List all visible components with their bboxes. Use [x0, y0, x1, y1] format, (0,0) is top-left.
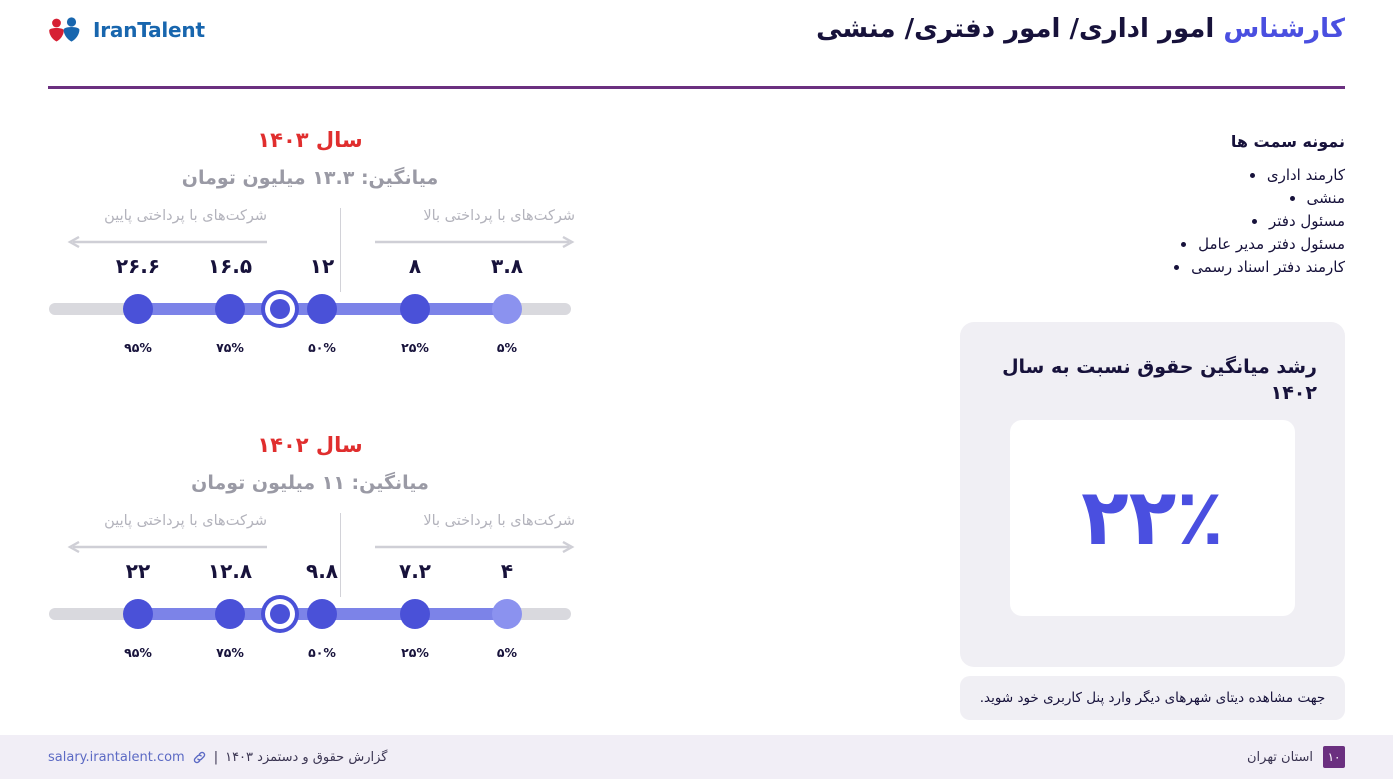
- link-icon[interactable]: [192, 750, 207, 765]
- value-label: ۲۲: [126, 559, 150, 583]
- titles-item-label: کارمند اداری: [1267, 166, 1345, 184]
- percentile-label: ۹۵%: [124, 645, 152, 660]
- chart-year-label: سال ۱۴۰۲: [45, 433, 575, 457]
- arrow-right-icon: [353, 233, 575, 252]
- average-marker[interactable]: [261, 290, 299, 328]
- salary-chart-1402: سال ۱۴۰۲ میانگین: ۱۱ میلیون تومان شرکت‌ه…: [45, 433, 575, 671]
- growth-percentage: ۲۲٪: [1081, 479, 1224, 557]
- chart-percentile-labels: ۵% ۲۵% ۵۰% ۷۵% ۹۵%: [45, 641, 575, 671]
- high-pay-side: شرکت‌های با پرداختی بالا: [353, 206, 575, 252]
- percentile-label: ۵%: [497, 645, 517, 660]
- page-title: کارشناس امور اداری/ امور دفتری/ منشی: [816, 14, 1345, 44]
- bullet-icon: [1174, 265, 1179, 270]
- percentile-slider[interactable]: [45, 593, 575, 635]
- high-pay-label: شرکت‌های با پرداختی بالا: [353, 511, 575, 531]
- list-item: منشی: [945, 187, 1345, 210]
- low-pay-label: شرکت‌های با پرداختی پایین: [45, 206, 267, 226]
- percentile-dot-25[interactable]: [400, 599, 430, 629]
- average-marker-core: [270, 604, 290, 624]
- percentile-dot-95[interactable]: [123, 294, 153, 324]
- footer-left-group: salary.irantalent.com | گزارش حقوق و دست…: [48, 735, 387, 779]
- footer-separator: |: [214, 750, 218, 765]
- average-marker-ring: [265, 294, 295, 324]
- percentile-dot-75[interactable]: [215, 599, 245, 629]
- percentile-label: ۷۵%: [216, 340, 244, 355]
- average-marker-ring: [265, 599, 295, 629]
- salary-growth-card: رشد میانگین حقوق نسبت به سال ۱۴۰۲ ۲۲٪: [960, 322, 1345, 667]
- high-pay-label: شرکت‌های با پرداختی بالا: [353, 206, 575, 226]
- bullet-icon: [1290, 196, 1295, 201]
- titles-item-label: مسئول دفتر: [1269, 212, 1345, 230]
- value-label: ۱۲.۸: [208, 559, 252, 583]
- percentile-dot-75[interactable]: [215, 294, 245, 324]
- footer-right-group: ۱۰ استان تهران: [1247, 735, 1345, 779]
- percentile-label: ۷۵%: [216, 645, 244, 660]
- percentile-dot-95[interactable]: [123, 599, 153, 629]
- percentile-dot-5[interactable]: [492, 599, 522, 629]
- low-pay-label: شرکت‌های با پرداختی پایین: [45, 511, 267, 531]
- chart-value-labels: ۳.۸ ۸ ۱۲ ۱۶.۵ ۲۶.۶: [45, 254, 575, 286]
- value-label: ۷.۲: [399, 559, 431, 583]
- footer-bar: salary.irantalent.com | گزارش حقوق و دست…: [0, 735, 1393, 779]
- irantalent-logo: IranTalent: [48, 17, 205, 43]
- percentile-label: ۲۵%: [401, 645, 429, 660]
- value-label: ۹.۸: [306, 559, 338, 583]
- page-number-badge: ۱۰: [1323, 746, 1345, 768]
- panel-note-card: جهت مشاهده دیتای شهرهای دیگر وارد پنل کا…: [960, 676, 1345, 720]
- list-item: مسئول دفتر: [945, 210, 1345, 233]
- slide-root: IranTalent کارشناس امور اداری/ امور دفتر…: [0, 0, 1393, 779]
- low-pay-side: شرکت‌های با پرداختی پایین: [45, 511, 267, 557]
- salary-chart-1403: سال ۱۴۰۳ میانگین: ۱۳.۳ میلیون تومان شرکت…: [45, 128, 575, 366]
- bullet-icon: [1250, 173, 1255, 178]
- list-item: مسئول دفتر مدیر عامل: [945, 233, 1345, 256]
- percentile-dot-50[interactable]: [307, 294, 337, 324]
- page-title-rest: امور اداری/ امور دفتری/ منشی: [816, 14, 1223, 44]
- percentile-dot-5[interactable]: [492, 294, 522, 324]
- value-label: ۸: [409, 254, 421, 278]
- chart-percentile-labels: ۵% ۲۵% ۵۰% ۷۵% ۹۵%: [45, 336, 575, 366]
- percentile-slider[interactable]: [45, 288, 575, 330]
- sample-titles-heading: نمونه سمت ها: [945, 132, 1345, 151]
- page-title-accent: کارشناس: [1223, 14, 1345, 44]
- list-item: کارمند دفتر اسناد رسمی: [945, 256, 1345, 279]
- growth-card-title: رشد میانگین حقوق نسبت به سال ۱۴۰۲: [988, 354, 1317, 406]
- titles-item-label: منشی: [1307, 189, 1345, 207]
- value-label: ۱۲: [310, 254, 334, 278]
- average-marker-core: [270, 299, 290, 319]
- percentile-dot-25[interactable]: [400, 294, 430, 324]
- chart-direction-arrows: شرکت‌های با پرداختی پایین شرکت‌های با پر…: [45, 511, 575, 559]
- header-divider: [48, 86, 1345, 89]
- bullet-icon: [1181, 242, 1186, 247]
- percentile-label: ۹۵%: [124, 340, 152, 355]
- titles-item-label: مسئول دفتر مدیر عامل: [1198, 235, 1345, 253]
- percentile-label: ۵۰%: [308, 645, 336, 660]
- value-label: ۴: [501, 559, 513, 583]
- chart-year-label: سال ۱۴۰۳: [45, 128, 575, 152]
- arrow-right-icon: [353, 538, 575, 557]
- two-people-logo-icon: [48, 17, 86, 43]
- logo-wordmark: IranTalent: [93, 18, 205, 42]
- chart-direction-arrows: شرکت‌های با پرداختی پایین شرکت‌های با پر…: [45, 206, 575, 254]
- value-label: ۲۶.۶: [116, 254, 160, 278]
- list-item: کارمند اداری: [945, 164, 1345, 187]
- average-marker[interactable]: [261, 595, 299, 633]
- percentile-dot-50[interactable]: [307, 599, 337, 629]
- percentile-label: ۲۵%: [401, 340, 429, 355]
- chart-average-label: میانگین: ۱۳.۳ میلیون تومان: [45, 167, 575, 189]
- value-label: ۳.۸: [491, 254, 523, 278]
- titles-item-label: کارمند دفتر اسناد رسمی: [1191, 258, 1345, 276]
- percentile-label: ۵%: [497, 340, 517, 355]
- arrow-left-icon: [45, 233, 267, 252]
- low-pay-side: شرکت‌های با پرداختی پایین: [45, 206, 267, 252]
- sample-titles-list: کارمند اداری منشی مسئول دفتر مسئول دفتر …: [945, 164, 1345, 279]
- high-pay-side: شرکت‌های با پرداختی بالا: [353, 511, 575, 557]
- bullet-icon: [1252, 219, 1257, 224]
- chart-value-labels: ۴ ۷.۲ ۹.۸ ۱۲.۸ ۲۲: [45, 559, 575, 591]
- footer-province-label: استان تهران: [1247, 750, 1313, 765]
- value-label: ۱۶.۵: [208, 254, 252, 278]
- percentile-label: ۵۰%: [308, 340, 336, 355]
- arrow-left-icon: [45, 538, 267, 557]
- sample-titles-panel: نمونه سمت ها کارمند اداری منشی مسئول دفت…: [945, 132, 1345, 279]
- footer-site-link[interactable]: salary.irantalent.com: [48, 750, 185, 765]
- footer-report-label: گزارش حقوق و دستمزد ۱۴۰۳: [225, 750, 387, 765]
- growth-value-box: ۲۲٪: [1010, 420, 1295, 616]
- panel-note-text: جهت مشاهده دیتای شهرهای دیگر وارد پنل کا…: [980, 690, 1326, 706]
- chart-average-label: میانگین: ۱۱ میلیون تومان: [45, 472, 575, 494]
